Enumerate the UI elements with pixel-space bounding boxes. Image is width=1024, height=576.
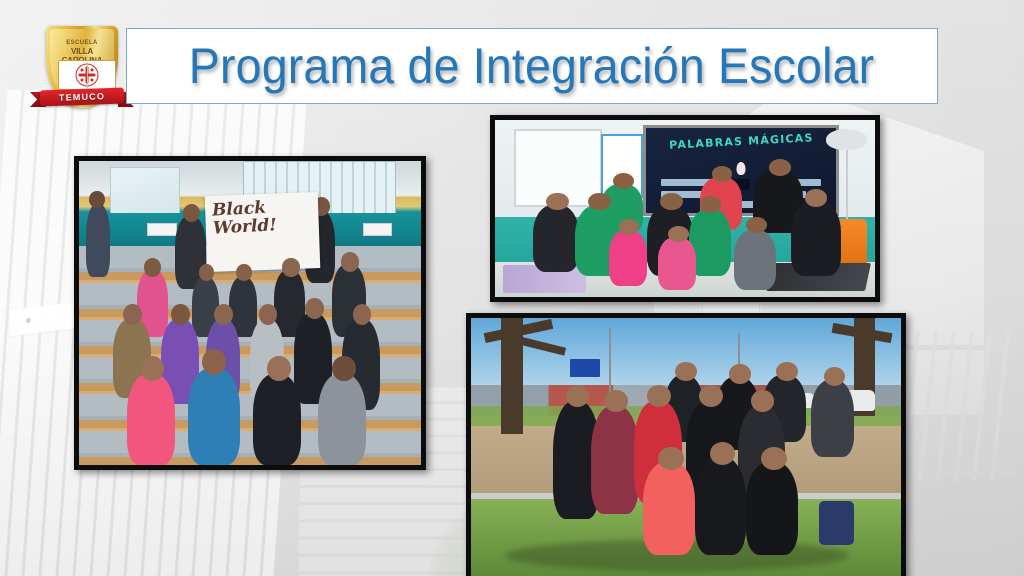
wall-notice xyxy=(363,223,392,236)
person-head xyxy=(675,362,697,381)
student-front xyxy=(253,374,301,465)
ribbon-label: TEMUCO xyxy=(40,88,125,107)
person-head xyxy=(89,191,104,208)
person-head xyxy=(746,217,767,233)
child-grey xyxy=(734,230,776,290)
black-world-sign-text: Black World! xyxy=(211,198,314,239)
person-head xyxy=(699,385,723,407)
palabras-magicas-title: PALABRAS MÁGICAS xyxy=(654,131,829,153)
person-head xyxy=(700,196,721,213)
person-head xyxy=(144,258,161,276)
person-head xyxy=(613,173,634,189)
person-head xyxy=(305,298,324,319)
photo-outdoor[interactable] xyxy=(466,313,906,576)
student-front xyxy=(318,374,366,465)
person-head xyxy=(566,385,590,407)
person-head xyxy=(546,193,569,211)
child-pink-2 xyxy=(658,237,696,290)
person-head xyxy=(776,362,798,381)
presentation-slide: ESCUELA VILLA CAROLINA TEMUCO xyxy=(0,0,1024,576)
person-head xyxy=(199,264,214,281)
person-head xyxy=(712,166,733,182)
person-back xyxy=(811,380,854,457)
person-left-dark xyxy=(533,205,579,272)
person-head xyxy=(332,356,356,382)
black-world-sign: Black World! xyxy=(204,192,319,272)
photo-classroom[interactable]: PALABRAS MÁGICAS xyxy=(490,115,880,302)
utility-pole xyxy=(609,328,611,400)
person-right-dark xyxy=(791,201,840,275)
person-head xyxy=(588,193,611,211)
person-head xyxy=(267,356,291,382)
crest-line1: ESCUELA xyxy=(50,40,114,46)
person-head xyxy=(769,159,792,176)
person-head xyxy=(658,447,684,470)
photo-bleachers-content: Black World! xyxy=(79,161,421,465)
crest-ribbon: TEMUCO xyxy=(30,86,134,109)
person-head xyxy=(236,264,251,281)
person-head xyxy=(214,304,233,325)
person-head xyxy=(282,258,299,276)
person-front-coral xyxy=(643,462,695,555)
school-crest-logo: ESCUELA VILLA CAROLINA TEMUCO xyxy=(30,24,134,118)
student-front xyxy=(188,368,239,465)
photo-outdoor-content xyxy=(471,318,901,576)
person-head xyxy=(341,252,360,272)
person-head xyxy=(751,390,775,412)
rabbit-icon xyxy=(737,162,746,175)
photo-bleachers[interactable]: Black World! xyxy=(74,156,426,470)
student-front xyxy=(127,374,175,465)
person-front-black xyxy=(746,462,798,555)
person-front-dark xyxy=(695,457,747,555)
person-head xyxy=(805,189,828,207)
person-head xyxy=(604,390,628,412)
slide-title: Programa de Integración Escolar xyxy=(189,37,875,95)
slide-title-box: Programa de Integración Escolar xyxy=(126,28,938,104)
crest-ball-icon xyxy=(76,64,99,87)
floor-lamp-icon xyxy=(826,129,868,150)
person-head xyxy=(668,226,689,242)
person-adult-left xyxy=(86,204,110,277)
person-head xyxy=(660,193,683,211)
photo-classroom-content: PALABRAS MÁGICAS xyxy=(495,120,875,297)
street-sign xyxy=(570,359,600,377)
person-head xyxy=(183,204,200,222)
person-maroon xyxy=(591,406,638,514)
child-pink xyxy=(609,230,647,287)
backpack xyxy=(819,501,853,545)
wall-notice xyxy=(147,223,176,236)
person-head xyxy=(729,364,751,383)
person-head xyxy=(647,385,671,407)
